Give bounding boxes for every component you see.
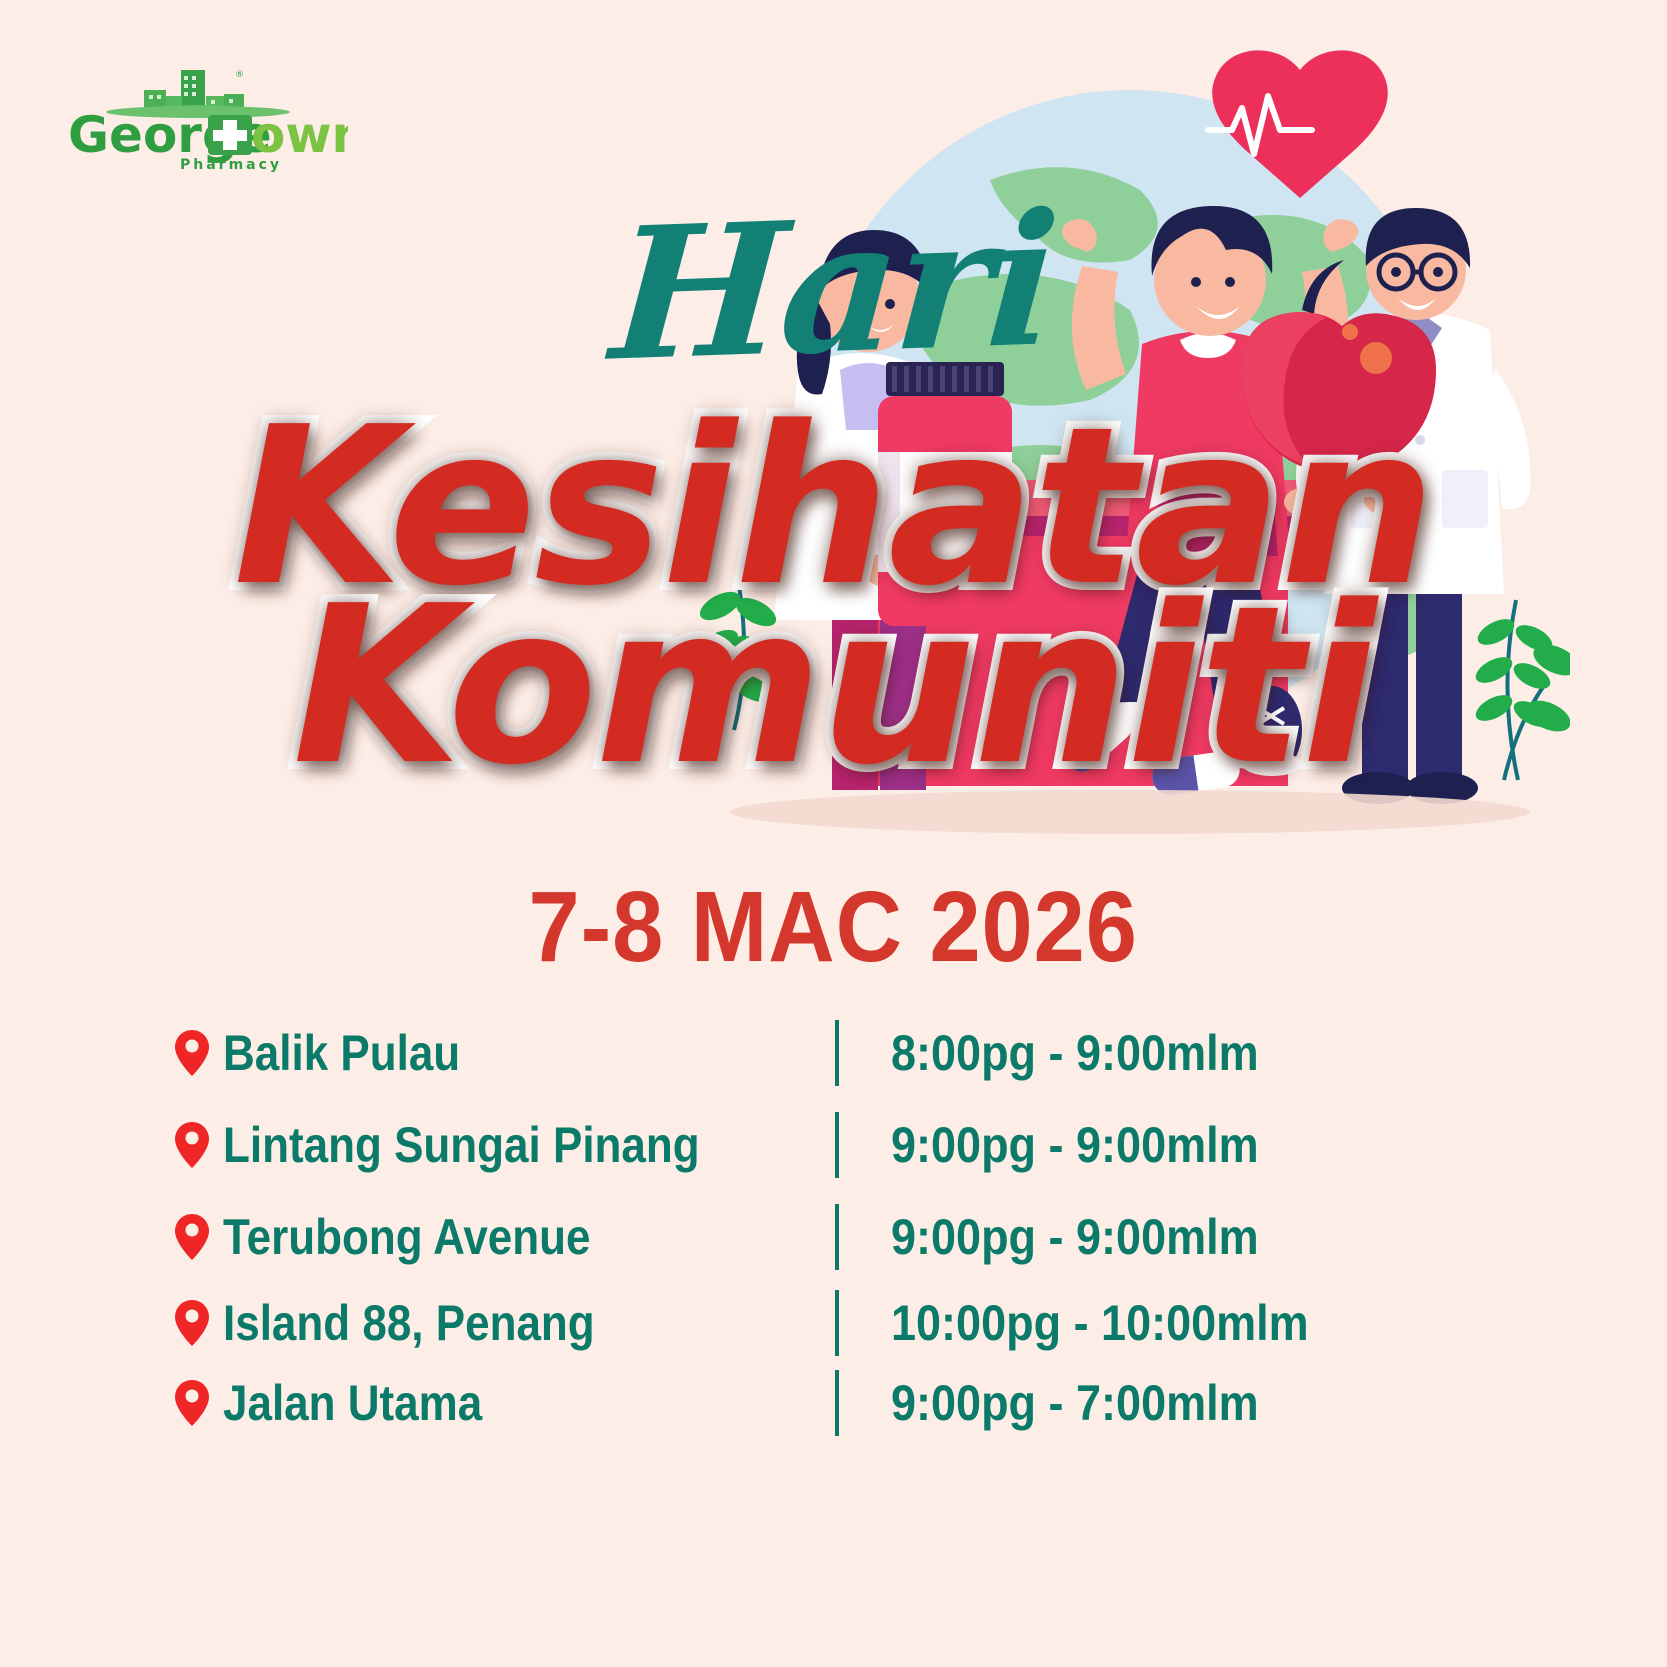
schedule-row: Lintang Sungai Pinang 9:00pg - 9:00mlm	[175, 1112, 1495, 1178]
brand-logo: ® George own Pharmacy	[48, 52, 348, 172]
schedule-row: Island 88, Penang 10:00pg - 10:00mlm	[175, 1290, 1495, 1356]
supplement-bottle	[878, 362, 1012, 626]
location-cell: Jalan Utama	[175, 1375, 835, 1431]
location-name: Lintang Sungai Pinang	[223, 1117, 700, 1173]
location-time: 9:00pg - 7:00mlm	[891, 1375, 1259, 1431]
map-pin-icon	[175, 1214, 209, 1260]
location-cell: Island 88, Penang	[175, 1295, 835, 1351]
green-cross-icon	[208, 115, 252, 155]
location-cell: Balik Pulau	[175, 1025, 835, 1081]
location-time: 9:00pg - 9:00mlm	[891, 1209, 1259, 1265]
poster-canvas: ® George own Pharmacy	[0, 0, 1667, 1667]
script-title: Hari	[0, 196, 1667, 378]
row-divider	[835, 1204, 839, 1270]
svg-text:own: own	[251, 106, 348, 164]
map-pin-icon	[175, 1122, 209, 1168]
location-name: Balik Pulau	[223, 1025, 460, 1081]
map-pin-icon	[175, 1380, 209, 1426]
location-name: Island 88, Penang	[223, 1295, 595, 1351]
location-time: 10:00pg - 10:00mlm	[891, 1295, 1309, 1351]
event-date-text: 7-8 MAC 2026	[529, 870, 1138, 985]
svg-text:®: ®	[235, 70, 244, 80]
svg-text:Pharmacy: Pharmacy	[180, 157, 282, 172]
location-time: 9:00pg - 9:00mlm	[891, 1117, 1259, 1173]
map-pin-icon	[175, 1300, 209, 1346]
row-divider	[835, 1020, 839, 1086]
row-divider	[835, 1290, 839, 1356]
location-cell: Lintang Sungai Pinang	[175, 1117, 835, 1173]
row-divider	[835, 1370, 839, 1436]
schedule-list: Balik Pulau 8:00pg - 9:00mlm Lintang Sun…	[175, 1020, 1495, 1449]
location-cell: Terubong Avenue	[175, 1209, 835, 1265]
schedule-row: Balik Pulau 8:00pg - 9:00mlm	[175, 1020, 1495, 1086]
map-pin-icon	[175, 1030, 209, 1076]
row-divider	[835, 1112, 839, 1178]
location-name: Jalan Utama	[223, 1375, 482, 1431]
schedule-row: Terubong Avenue 9:00pg - 9:00mlm	[175, 1204, 1495, 1270]
schedule-row: Jalan Utama 9:00pg - 7:00mlm	[175, 1370, 1495, 1436]
location-time: 8:00pg - 9:00mlm	[891, 1025, 1259, 1081]
script-title-text: Hari	[607, 188, 1060, 385]
health-illustration	[690, 40, 1570, 840]
event-date: 7-8 MAC 2026	[0, 870, 1667, 985]
location-name: Terubong Avenue	[223, 1209, 590, 1265]
